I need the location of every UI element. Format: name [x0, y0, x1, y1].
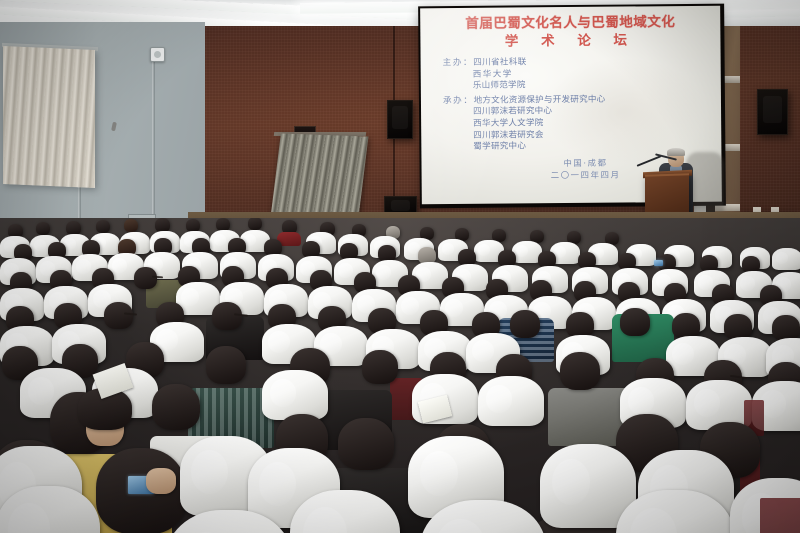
- presenter-hair: [667, 148, 685, 156]
- audience-head: [104, 302, 133, 329]
- slide-host-label: 承办：: [443, 96, 474, 106]
- audience-head: [152, 384, 200, 430]
- audience-head: [206, 346, 246, 384]
- audience-head: [338, 418, 394, 470]
- audience-area: [0, 218, 800, 533]
- seat-cover: [262, 370, 328, 420]
- audience-head: [560, 352, 600, 390]
- audience-head: [124, 219, 138, 232]
- slide-organizer-0: 四川省社科联: [473, 57, 526, 67]
- seat-cover: [772, 248, 800, 270]
- slide-body: 主办：四川省社科联 西华大学 乐山师范学院 承办：地方文化资源保护与开发研究中心…: [431, 56, 712, 154]
- audience-head: [36, 222, 50, 235]
- wall-mark: [111, 122, 117, 132]
- wall-speaker-icon: [387, 100, 413, 139]
- phone-icon: [654, 260, 663, 266]
- pleated-blind-icon: [3, 46, 95, 188]
- audience-head: [212, 302, 242, 330]
- slide-organizer-label: 主办：: [443, 58, 474, 68]
- slide-host-0: 地方文化资源保护与开发研究中心: [474, 94, 606, 105]
- audience-head: [66, 221, 81, 235]
- audience-head: [620, 308, 650, 336]
- seat-fabric: [760, 498, 800, 533]
- audience-head: [362, 350, 398, 384]
- audience-hand: [146, 468, 176, 494]
- seat-cover: [478, 376, 544, 426]
- slide-organizer-2: 乐山师范学院: [443, 79, 711, 93]
- conference-hall-photo: 首届巴蜀文化名人与巴蜀地域文化 学 术 论 坛 主办：四川省社科联 西华大学 乐…: [0, 0, 800, 533]
- audience-head: [96, 220, 110, 233]
- audience-head: [510, 310, 540, 338]
- audience-head: [155, 218, 170, 232]
- slide-title-line2: 学 术 论 坛: [430, 31, 710, 52]
- wall-speaker-icon: [757, 89, 788, 135]
- audience-head: [248, 218, 262, 230]
- wall-sensor-icon: [150, 47, 165, 62]
- audience-head: [134, 267, 157, 289]
- slide-title-line1: 首届巴蜀文化名人与巴蜀地域文化: [430, 14, 710, 33]
